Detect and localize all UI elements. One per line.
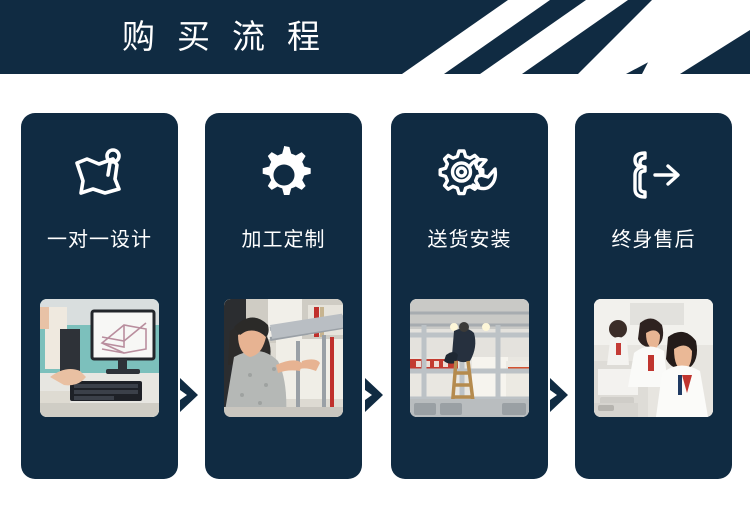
step-card-manufacturing[interactable]: 加工定制 xyxy=(205,113,362,479)
step-card-delivery-installation[interactable]: 送货安装 xyxy=(391,113,548,479)
step-label: 送货安装 xyxy=(391,223,548,252)
diagonal-stripes-decoration xyxy=(390,0,750,74)
step-label: 终身售后 xyxy=(575,223,732,252)
chevron-right-icon xyxy=(180,378,203,412)
gear-icon xyxy=(205,133,362,217)
step-photo-manufacturing xyxy=(224,299,343,417)
chevron-right-icon xyxy=(365,378,388,412)
step-label: 加工定制 xyxy=(205,223,362,252)
step-photo-after-sales xyxy=(594,299,713,417)
pinned-paper-icon xyxy=(21,133,178,217)
gear-wrench-icon xyxy=(391,133,548,217)
chevron-right-icon xyxy=(550,378,573,412)
process-steps-row: 一对一设计 xyxy=(0,113,750,479)
step-card-design[interactable]: 一对一设计 xyxy=(21,113,178,479)
step-label: 一对一设计 xyxy=(21,223,178,252)
step-photo-installation xyxy=(410,299,529,417)
step-photo-design xyxy=(40,299,159,417)
phone-arrow-icon xyxy=(575,133,732,217)
page-header: 购买流程 xyxy=(0,0,750,74)
page-title: 购买流程 xyxy=(122,0,342,74)
step-card-after-sales[interactable]: 终身售后 xyxy=(575,113,732,479)
